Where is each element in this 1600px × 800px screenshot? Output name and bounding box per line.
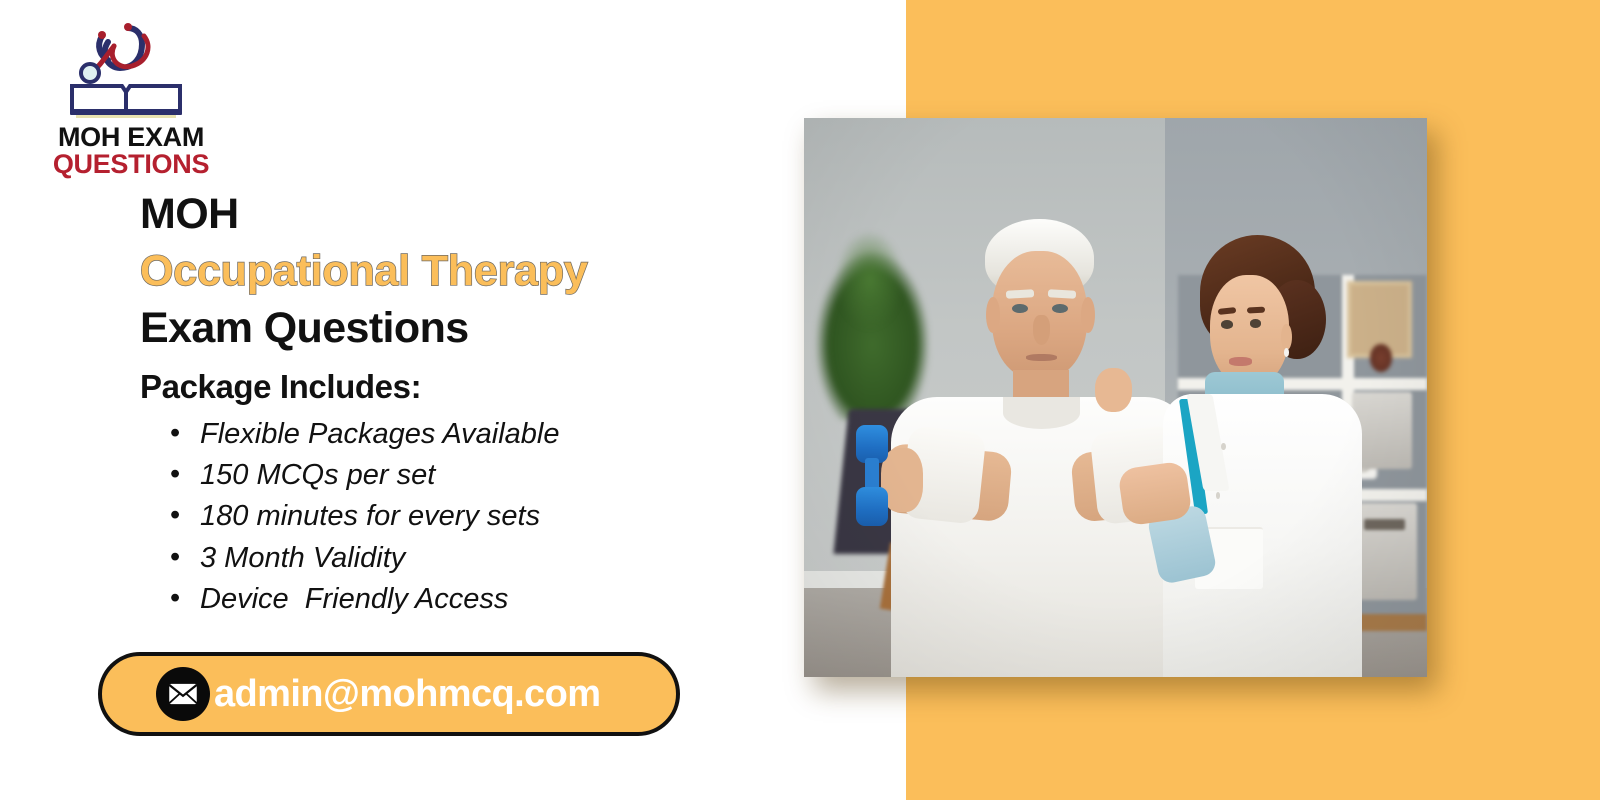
package-includes-title: Package Includes: — [140, 368, 421, 406]
logo-text-line-2: QUESTIONS — [46, 149, 216, 180]
list-item: 180 minutes for every sets — [168, 496, 788, 537]
headline-line-3: Exam Questions — [140, 300, 800, 357]
brand-logo[interactable]: MOH EXAM QUESTIONS — [46, 14, 216, 172]
photo-vignette — [804, 118, 1427, 677]
envelope-icon — [156, 667, 210, 721]
clinic-photo — [804, 118, 1427, 677]
promo-banner: MOH EXAM QUESTIONS MOH Occupational Ther… — [0, 0, 1600, 800]
hero-photo-card — [804, 118, 1427, 677]
headline-line-1: MOH — [140, 186, 800, 243]
list-item: Flexible Packages Available — [168, 414, 788, 455]
list-item: 3 Month Validity — [168, 538, 788, 579]
email-address-label: admin@mohmcq.com — [214, 675, 600, 713]
headline-block: MOH Occupational Therapy Exam Questions — [140, 186, 800, 356]
email-cta-button[interactable]: admin@mohmcq.com — [98, 652, 680, 736]
headline-accent-line: Occupational Therapy — [140, 243, 800, 300]
list-item: 150 MCQs per set — [168, 455, 788, 496]
package-features-list: Flexible Packages Available 150 MCQs per… — [168, 414, 788, 620]
stethoscope-over-open-book-icon — [56, 14, 196, 122]
list-item: Device Friendly Access — [168, 579, 788, 620]
